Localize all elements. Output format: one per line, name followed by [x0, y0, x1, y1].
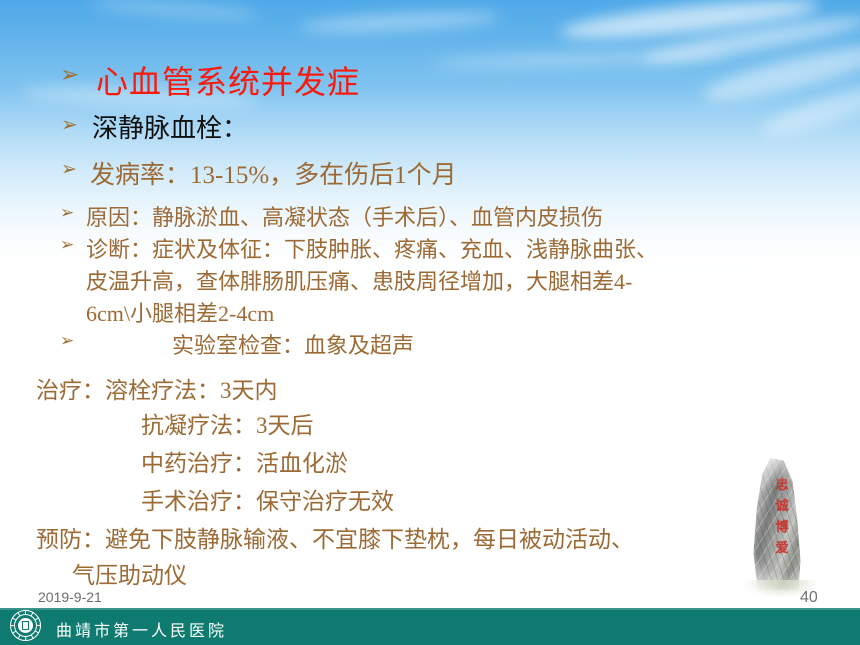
- incidence-line: 发病率：13-15%，多在伤后1个月: [90, 155, 457, 191]
- bullet-arrow-icon: ➢: [61, 114, 78, 134]
- logo-tick: [25, 610, 26, 614]
- diagnosis-line-3: 6cm\小腿相差2-4cm: [86, 296, 274, 328]
- prevention-line-1: 预防：避免下肢静脉输液、不宜膝下垫枕，每日被动活动、: [36, 520, 634, 554]
- treatment-line-3: 中药治疗：活血化淤: [141, 444, 348, 478]
- logo-core: [18, 618, 33, 633]
- slide-content: ➢ 心血管系统并发症 ➢ 深静脉血栓： ➢ 发病率：13-15%，多在伤后1个月…: [0, 0, 860, 585]
- bullet-arrow-icon: ➢: [60, 64, 79, 87]
- logo-tick: [10, 625, 14, 626]
- footer-bar: 曲靖市第一人民医院: [0, 608, 860, 645]
- presentation-slide: 忠诚博爱 ➢ 心血管系统并发症 ➢ 深静脉血栓： ➢ 发病率：13-15%，多在…: [0, 0, 860, 645]
- cause-line: 原因：静脉淤血、高凝状态（手术后）、血管内皮损伤: [86, 200, 603, 232]
- hospital-name: 曲靖市第一人民医院: [56, 617, 227, 641]
- treatment-line-2: 抗凝疗法：3天后: [141, 406, 314, 440]
- prevention-line-2: 气压助动仪: [72, 556, 187, 590]
- lab-exam-line: 实验室检查：血象及超声: [172, 328, 414, 360]
- bullet-arrow-icon: ➢: [60, 237, 74, 254]
- hospital-logo-icon: [10, 610, 43, 643]
- bullet-arrow-icon: ➢: [60, 205, 74, 222]
- bullet-arrow-icon: ➢: [61, 160, 77, 179]
- diagnosis-line-1: 诊断：症状及体征：下肢肿胀、疼痛、充血、浅静脉曲张、: [86, 232, 658, 264]
- dvt-heading: 深静脉血栓：: [92, 108, 248, 145]
- diagnosis-line-2: 皮温升高，查体腓肠肌压痛、患肢周径增加，大腿相差4-: [86, 264, 632, 296]
- treatment-line-1: 治疗：溶栓疗法：3天内: [36, 371, 278, 405]
- page-number: 40: [800, 589, 818, 607]
- logo-tick: [37, 625, 41, 626]
- treatment-line-4: 手术治疗：保守治疗无效: [141, 482, 394, 516]
- logo-tick: [25, 637, 26, 641]
- bullet-arrow-icon: ➢: [60, 333, 74, 350]
- slide-title: 心血管系统并发症: [96, 57, 360, 103]
- slide-date: 2019-9-21: [38, 589, 102, 605]
